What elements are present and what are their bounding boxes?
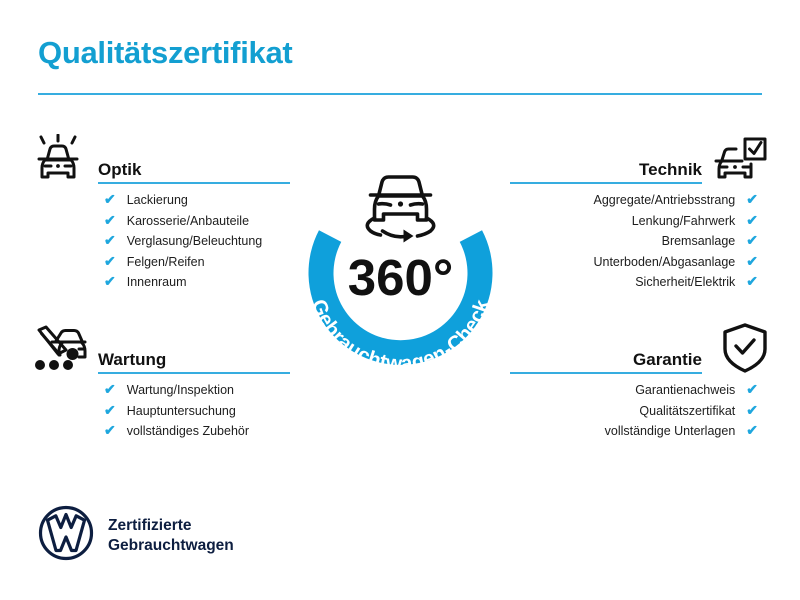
section-wartung: Wartung ✔Wartung/Inspektion ✔Hauptunters… — [30, 322, 292, 442]
section-technik: Technik Aggregate/Antriebsstrang✔ Lenkun… — [508, 132, 770, 293]
check-icon: ✔ — [746, 211, 758, 231]
list-item: vollständige Unterlagen✔ — [508, 421, 770, 442]
check-icon: ✔ — [746, 231, 758, 251]
list-item-label: Karosserie/Anbauteile — [127, 212, 249, 232]
section-title-wrap: Optik — [98, 160, 290, 184]
section-optik: Optik ✔Lackierung ✔Karosserie/Anbauteile… — [30, 132, 292, 293]
list-item-label: Wartung/Inspektion — [127, 381, 234, 401]
check-icon: ✔ — [104, 380, 116, 400]
section-title-wrap: Technik — [510, 160, 702, 184]
check-icon: ✔ — [746, 190, 758, 210]
header-divider — [38, 93, 762, 95]
check-icon: ✔ — [104, 252, 116, 272]
list-item-label: Qualitätszertifikat — [639, 402, 735, 422]
check-icon: ✔ — [104, 421, 116, 441]
list-item-label: Garantienachweis — [635, 381, 735, 401]
checklist-wartung: ✔Wartung/Inspektion ✔Hauptuntersuchung ✔… — [30, 380, 292, 442]
page-title: Qualitätszertifikat — [38, 35, 292, 71]
section-header: Technik — [508, 132, 770, 184]
footer-logo-text: Zertifizierte Gebrauchtwagen — [108, 516, 234, 556]
section-divider — [510, 372, 702, 374]
list-item-label: vollständige Unterlagen — [605, 422, 736, 442]
list-item: ✔Karosserie/Anbauteile — [30, 211, 292, 232]
check-icon: ✔ — [104, 190, 116, 210]
list-item: Qualitätszertifikat✔ — [508, 401, 770, 422]
footer-logo: Zertifizierte Gebrauchtwagen — [38, 505, 234, 566]
list-item: ✔vollständiges Zubehör — [30, 421, 292, 442]
check-icon: ✔ — [746, 272, 758, 292]
list-item: Aggregate/Antriebsstrang✔ — [508, 190, 770, 211]
list-item-label: Innenraum — [127, 273, 187, 293]
check-icon: ✔ — [104, 401, 116, 421]
list-item-label: Bremsanlage — [662, 232, 736, 252]
check-icon: ✔ — [104, 211, 116, 231]
list-item-label: Hauptuntersuchung — [127, 402, 236, 422]
car-checkbox-icon — [708, 132, 770, 184]
list-item: Bremsanlage✔ — [508, 231, 770, 252]
section-title: Garantie — [510, 350, 702, 370]
car-polish-icon — [30, 132, 92, 184]
list-item-label: Lenkung/Fahrwerk — [632, 212, 736, 232]
section-title: Wartung — [98, 350, 290, 370]
check-icon: ✔ — [104, 231, 116, 251]
section-header: Wartung — [30, 322, 292, 374]
shield-check-icon — [708, 322, 770, 374]
checklist-technik: Aggregate/Antriebsstrang✔ Lenkung/Fahrwe… — [508, 190, 770, 293]
section-garantie: Garantie Garantienachweis✔ Qualitätszert… — [508, 322, 770, 442]
list-item-label: Aggregate/Antriebsstrang — [594, 191, 736, 211]
section-title: Optik — [98, 160, 290, 180]
section-divider — [98, 182, 290, 184]
list-item: Lenkung/Fahrwerk✔ — [508, 211, 770, 232]
car-rotate-360-icon — [367, 177, 433, 243]
check-icon: ✔ — [104, 272, 116, 292]
list-item: Sicherheit/Elektrik✔ — [508, 272, 770, 293]
list-item: ✔Verglasung/Beleuchtung — [30, 231, 292, 252]
list-item-label: Lackierung — [127, 191, 188, 211]
badge-center-label: 360° — [348, 249, 454, 306]
service-log-pen-car-icon — [30, 322, 92, 374]
volkswagen-logo — [38, 505, 94, 566]
section-divider — [510, 182, 702, 184]
list-item: ✔Felgen/Reifen — [30, 252, 292, 273]
check-icon: ✔ — [746, 252, 758, 272]
section-header: Garantie — [508, 322, 770, 374]
section-title: Technik — [510, 160, 702, 180]
section-title-wrap: Garantie — [510, 350, 702, 374]
list-item: Garantienachweis✔ — [508, 380, 770, 401]
list-item-label: vollständiges Zubehör — [127, 422, 249, 442]
section-header: Optik — [30, 132, 292, 184]
badge-360-gebrauchtwagen-check: 360° Gebrauchtwagen-Check — [283, 136, 518, 396]
list-item-label: Felgen/Reifen — [127, 253, 205, 273]
list-item: ✔Hauptuntersuchung — [30, 401, 292, 422]
check-icon: ✔ — [746, 421, 758, 441]
check-icon: ✔ — [746, 380, 758, 400]
check-icon: ✔ — [746, 401, 758, 421]
checklist-optik: ✔Lackierung ✔Karosserie/Anbauteile ✔Verg… — [30, 190, 292, 293]
section-divider — [98, 372, 290, 374]
list-item-label: Sicherheit/Elektrik — [635, 273, 735, 293]
list-item: ✔Wartung/Inspektion — [30, 380, 292, 401]
list-item: Unterboden/Abgasanlage✔ — [508, 252, 770, 273]
list-item: ✔Lackierung — [30, 190, 292, 211]
list-item: ✔Innenraum — [30, 272, 292, 293]
checklist-garantie: Garantienachweis✔ Qualitätszertifikat✔ v… — [508, 380, 770, 442]
list-item-label: Verglasung/Beleuchtung — [127, 232, 263, 252]
section-title-wrap: Wartung — [98, 350, 290, 374]
list-item-label: Unterboden/Abgasanlage — [593, 253, 735, 273]
